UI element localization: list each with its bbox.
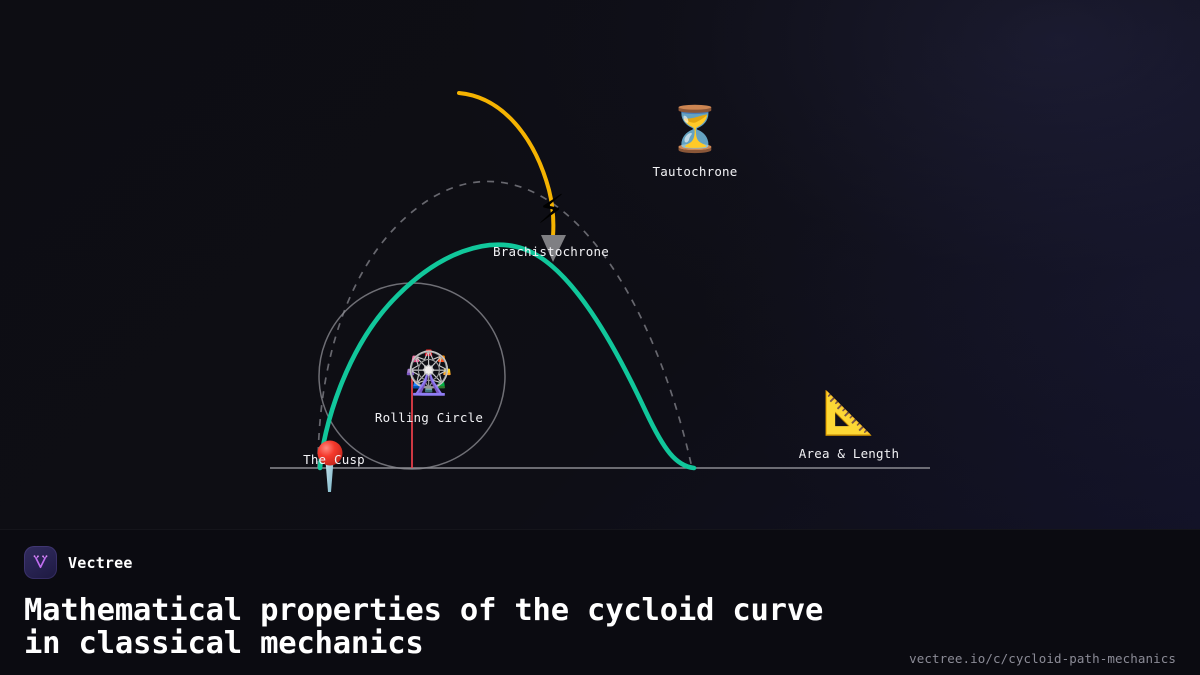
annotation-area-length: 📐 Area & Length [799, 392, 899, 461]
annotation-brachistochrone: ⚡ Brachistochrone [493, 190, 609, 259]
annotation-rolling-circle: 🎡 Rolling Circle [375, 352, 483, 425]
footer-bar: Vectree Mathematical properties of the c… [0, 529, 1200, 675]
page-title: Mathematical properties of the cycloid c… [24, 594, 870, 660]
annotation-label: Rolling Circle [375, 410, 483, 425]
triangular-ruler-icon: 📐 [799, 392, 899, 434]
annotation-label: Brachistochrone [493, 244, 609, 259]
annotation-tautochrone: ⏳ Tautochrone [653, 108, 738, 179]
annotation-the-cusp: The Cusp [303, 432, 365, 467]
annotation-label: Area & Length [799, 446, 899, 461]
lightning-bolt-icon: ⚡ [493, 190, 609, 230]
ferris-wheel-icon: 🎡 [375, 352, 483, 394]
brand-name: Vectree [68, 554, 133, 572]
cycloid-diagram [0, 0, 1200, 530]
brand-row: Vectree [24, 546, 133, 579]
vectree-logo [24, 546, 57, 579]
annotation-label: The Cusp [303, 452, 365, 467]
hourglass-icon: ⏳ [653, 108, 738, 152]
slide-canvas: ⏳ Tautochrone ⚡ Brachistochrone 📐 Area &… [0, 0, 1200, 675]
source-url: vectree.io/c/cycloid-path-mechanics [909, 651, 1176, 666]
vectree-v-tree-icon [31, 553, 50, 572]
annotation-label: Tautochrone [653, 164, 738, 179]
